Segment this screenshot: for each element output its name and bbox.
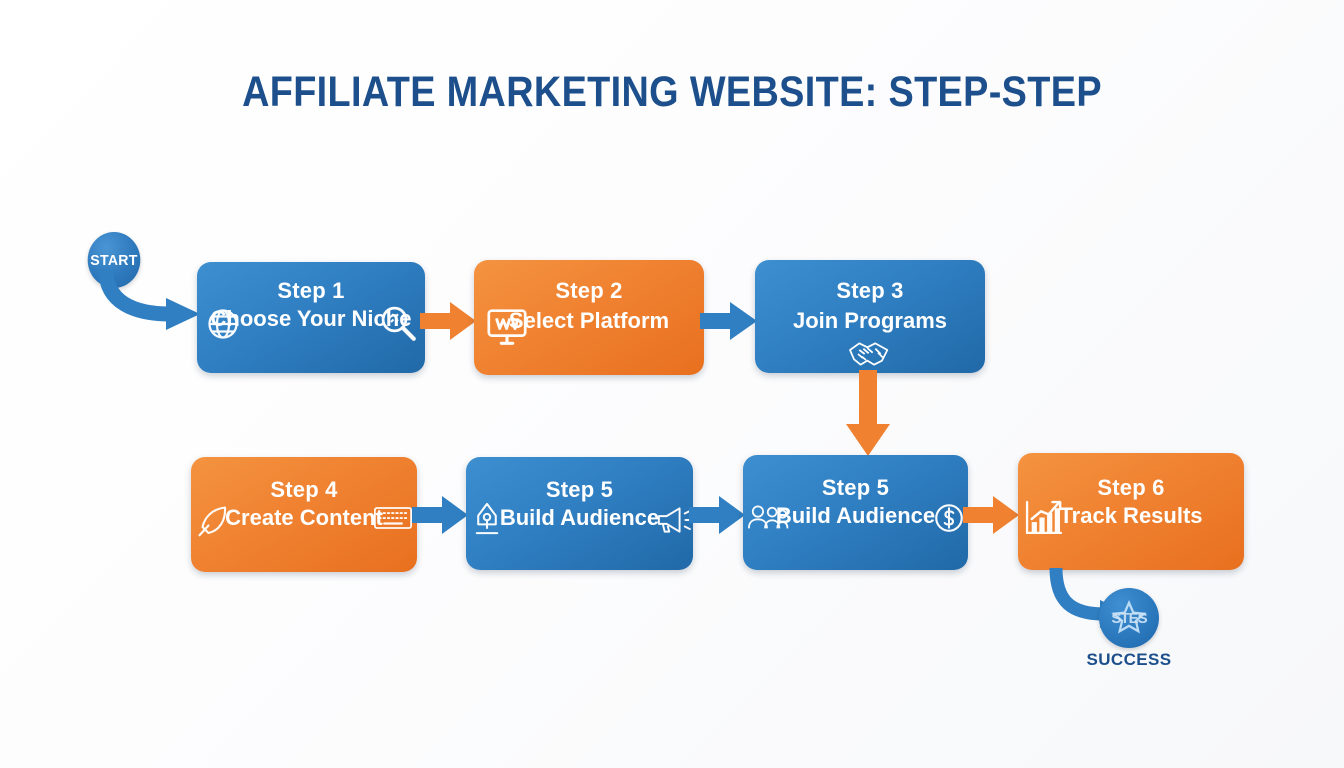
magnifier-icon	[377, 302, 419, 349]
bar-chart-growth-icon	[1022, 499, 1066, 544]
pen-nib-icon	[470, 501, 504, 544]
step6-title: Step 6	[1018, 475, 1244, 501]
start-node-label: START	[90, 252, 137, 269]
flowchart-canvas: AFFILIATE MARKETING WEBSITE: STEP-STEP S…	[0, 0, 1344, 768]
monitor-wordpress-icon	[484, 304, 530, 355]
connector-step2-to-step3	[700, 298, 760, 344]
connector-start-to-step1	[88, 268, 208, 338]
step-box-step2[interactable]: Step 2 Select Platform	[474, 260, 704, 375]
people-group-icon	[745, 503, 789, 538]
globe-icon	[205, 306, 241, 347]
step3-title: Step 3	[755, 278, 985, 304]
connector-step5b-to-step6	[963, 492, 1021, 538]
step1-title: Step 1	[197, 278, 425, 304]
connector-step5-to-step5b	[689, 492, 747, 538]
step-box-step6[interactable]: Step 6 Track Results	[1018, 453, 1244, 570]
connector-step4-to-step5	[412, 492, 470, 538]
megaphone-icon	[655, 503, 693, 542]
step2-title: Step 2	[474, 278, 704, 304]
feather-pen-icon	[195, 503, 231, 544]
step-box-step5[interactable]: Step 5 Build Audience	[466, 457, 693, 570]
dollar-coin-icon	[932, 501, 966, 540]
success-inner-label: STES	[1099, 610, 1159, 627]
step-box-step1[interactable]: Step 1 Choose Your Niche	[197, 262, 425, 373]
success-label: SUCCESS	[1059, 650, 1199, 670]
page-title: AFFILIATE MARKETING WEBSITE: STEP-STEP	[81, 68, 1264, 117]
connector-step3-to-step5b	[840, 370, 896, 460]
step-box-step4[interactable]: Step 4 Create Content	[191, 457, 417, 572]
step3-label: Join Programs	[755, 308, 985, 335]
step5b-title: Step 5	[743, 475, 968, 501]
keyboard-icon	[373, 503, 413, 538]
step5-title: Step 5	[466, 477, 693, 503]
step4-title: Step 4	[191, 477, 417, 503]
success-node-graphic: STES	[1099, 588, 1159, 648]
step-box-step5b[interactable]: Step 5 Build Audience	[743, 455, 968, 570]
success-node[interactable]: STES	[1099, 588, 1159, 648]
step-box-step3[interactable]: Step 3 Join Programs	[755, 260, 985, 373]
connector-step1-to-step2	[420, 298, 478, 344]
handshake-icon	[846, 338, 894, 373]
